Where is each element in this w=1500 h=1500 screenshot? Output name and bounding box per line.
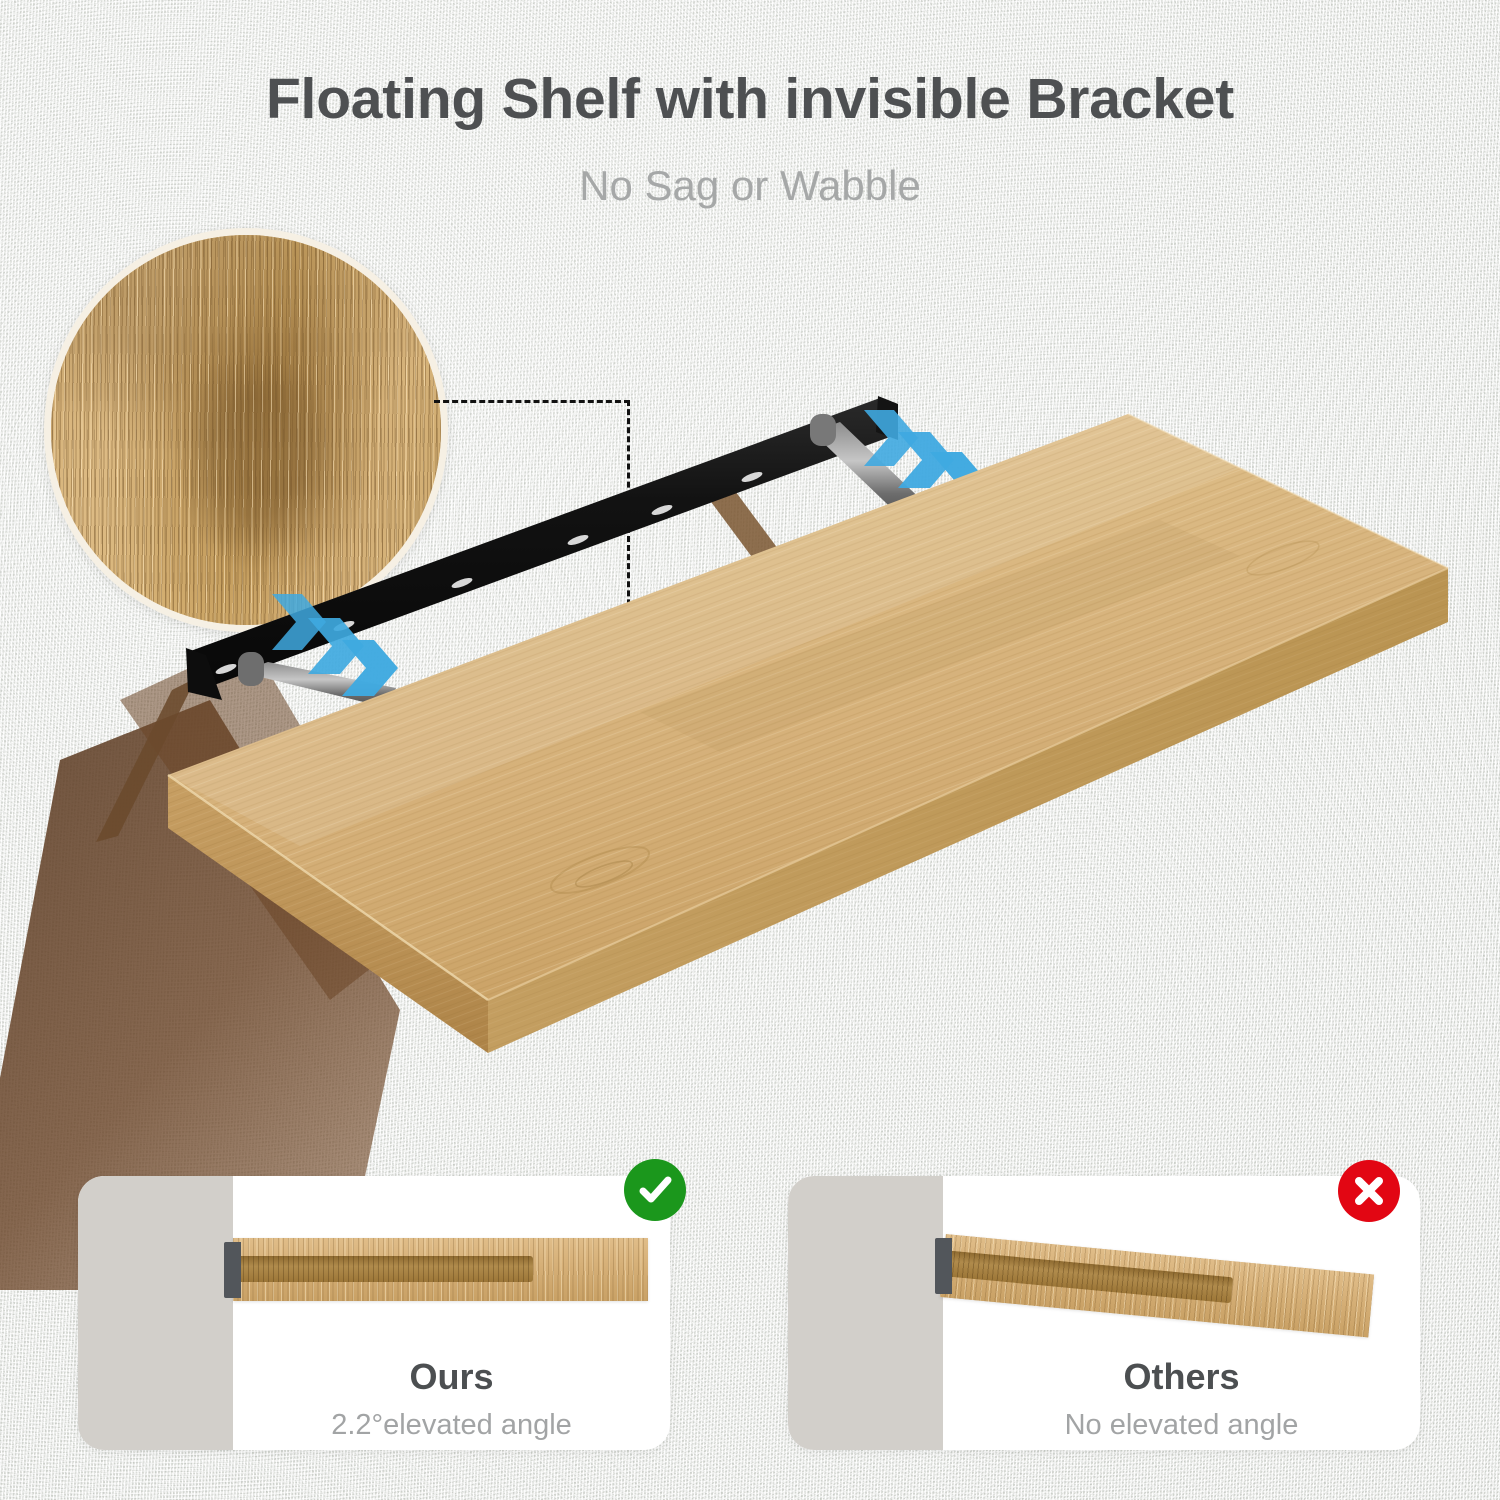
wall-plate-others <box>935 1238 952 1294</box>
card-subcaption-ours: 2.2°elevated angle <box>233 1409 670 1442</box>
card-subcaption-others: No elevated angle <box>943 1409 1420 1442</box>
card-wall-block-ours <box>78 1176 233 1450</box>
infographic-canvas: Floating Shelf with invisible Bracket No… <box>0 0 1500 1500</box>
comparison-card-ours: Ours 2.2°elevated angle <box>78 1176 670 1450</box>
card-wall-block-others <box>788 1176 943 1450</box>
card-caption-ours: Ours <box>233 1356 670 1398</box>
wall-plate-ours <box>224 1242 241 1298</box>
card-caption-others: Others <box>943 1356 1420 1398</box>
shelf-cross-section-others <box>940 1234 1374 1337</box>
cross-icon <box>1338 1160 1400 1222</box>
comparison-card-others: Others No elevated angle <box>788 1176 1420 1450</box>
check-icon <box>624 1159 686 1221</box>
oak-floating-shelf <box>168 414 1448 1053</box>
shelf-groove-ours <box>233 1256 533 1282</box>
shelf-cross-section-ours <box>233 1238 648 1301</box>
shelf-groove-others <box>942 1250 1233 1303</box>
